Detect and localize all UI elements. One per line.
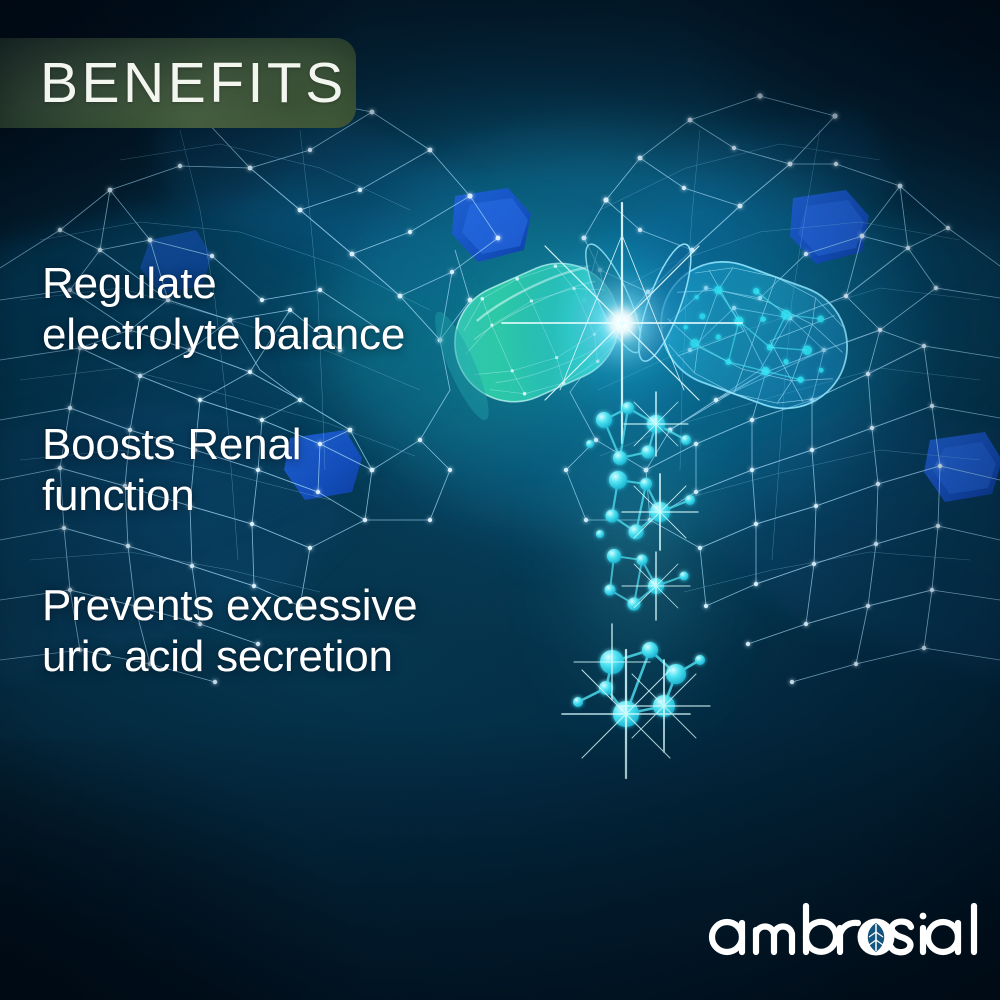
banner-title: BENEFITS xyxy=(40,55,347,112)
benefit-item-1: Regulate electrolyte balance xyxy=(42,258,562,361)
leaf-mark-icon xyxy=(858,919,895,956)
brand-logo xyxy=(706,900,956,962)
benefits-poster: BENEFITS Regulate electrolyte balance Bo… xyxy=(0,0,1000,1000)
ambrosial-logotype xyxy=(706,900,956,962)
benefits-list: Regulate electrolyte balance Boosts Rena… xyxy=(42,258,562,683)
benefit-item-3: Prevents excessive uric acid secretion xyxy=(42,580,562,683)
benefit-item-2: Boosts Renal function xyxy=(42,419,562,522)
